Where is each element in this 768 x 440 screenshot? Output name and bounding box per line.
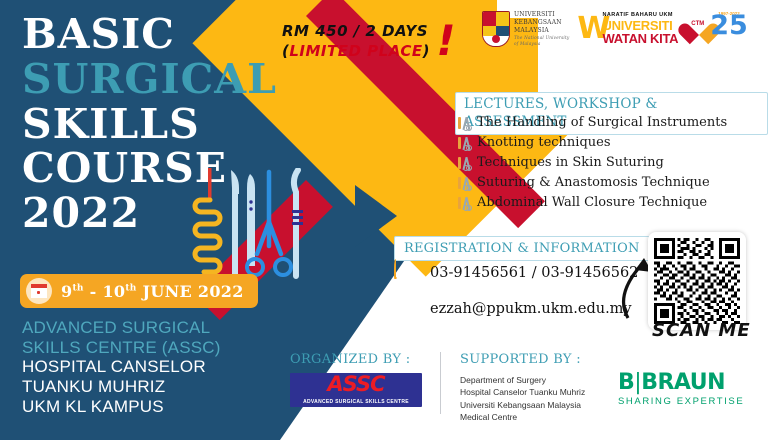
date-badge-label: 9th - 10th JUNE 2022	[61, 282, 244, 301]
section-divider	[440, 352, 441, 414]
assc-logo-subtitle: ADVANCED SURGICAL SKILLS CENTRE	[290, 399, 422, 405]
forceps-icon	[457, 196, 471, 211]
supported-line-3: Universiti Kebangsaan Malaysia	[460, 399, 585, 411]
heart-icon	[686, 15, 712, 39]
partner-logos: UNIVERSITI KEBANGSAAN MALAYSIA The Natio…	[482, 10, 742, 48]
venue-line-4: TUANKU MUHRIZ	[22, 377, 221, 397]
date-badge: 9th - 10th JUNE 2022	[20, 274, 258, 308]
braun-tagline: SHARING EXPERTISE	[618, 396, 744, 407]
forceps-icon	[457, 136, 471, 151]
date-day-from-sup: th	[72, 283, 83, 293]
ukm-sub-2: of Malaysia	[514, 41, 569, 47]
ukm-word-1: UNIVERSITI	[514, 11, 569, 19]
forceps-icon	[457, 156, 471, 171]
organized-by-block: ORGANIZED BY : ASSC ADVANCED SURGICAL SK…	[290, 352, 422, 407]
ukm-wordmark: UNIVERSITI KEBANGSAAN MALAYSIA The Natio…	[514, 11, 569, 47]
list-item: Abdominal Wall Closure Technique	[457, 194, 727, 213]
list-item: Knotting techniques	[457, 134, 727, 153]
braun-name: BRAUN	[641, 370, 725, 395]
b-braun-logo: B|BRAUN SHARING EXPERTISE	[618, 372, 744, 407]
watan-word-1: UNIVERSITI	[603, 19, 679, 32]
price-paren-close: )	[423, 42, 430, 60]
lecture-item-label: Techniques in Skin Suturing	[477, 154, 664, 173]
title-line-skills: SKILLS	[22, 104, 277, 146]
ukm-crest-logo: UNIVERSITI KEBANGSAAN MALAYSIA The Natio…	[482, 11, 569, 47]
price-line-1: RM 450 / 2 DAYS	[282, 22, 430, 42]
supported-line-1: Department of Surgery	[460, 374, 585, 386]
list-item: Techniques in Skin Suturing	[457, 154, 727, 173]
contact-email-row: ezzah@ppukm.ukm.edu.my	[394, 296, 638, 322]
ctm-initials: CTM	[691, 21, 704, 27]
forceps-icon	[457, 116, 471, 131]
supported-by-lines: Department of Surgery Hospital Canselor …	[460, 374, 585, 423]
watan-wordmark: NARATIF BAHARU UKM UNIVERSITI WATAN KITA	[603, 13, 679, 45]
price-banner: RM 450 / 2 DAYS (LIMITED PLACE) !	[282, 22, 430, 61]
price-limited-place: LIMITED PLACE	[289, 42, 422, 60]
price-line-2: (LIMITED PLACE)	[282, 42, 430, 62]
phone-icon	[394, 260, 420, 286]
venue-block: ADVANCED SURGICAL SKILLS CENTRE (ASSC) H…	[22, 318, 221, 417]
ctm-25-anniversary-logo: CTM 1997-2022 25	[686, 10, 742, 48]
calendar-icon	[26, 278, 52, 304]
ukm-word-3: MALAYSIA	[514, 27, 569, 35]
qr-code[interactable]	[648, 232, 746, 330]
braun-wordmark: B|BRAUN	[618, 372, 744, 394]
contact-phone-row: 03-91456561 / 03-91456562	[394, 260, 638, 286]
contact-block: 03-91456561 / 03-91456562 ezzah@ppukm.uk…	[394, 260, 638, 332]
ctm-number: 25	[710, 12, 748, 39]
date-day-to-sup: th	[125, 283, 136, 293]
ukm-crest-icon	[482, 11, 510, 47]
date-day-to: 10	[102, 282, 125, 301]
venue-line-5: UKM KL KAMPUS	[22, 397, 221, 417]
ukm-word-2: KEBANGSAAN	[514, 19, 569, 27]
lecture-item-label: Suturing & Anastomosis Technique	[477, 174, 710, 193]
supported-line-2: Hospital Canselor Tuanku Muhriz	[460, 386, 585, 398]
supported-by-heading: SUPPORTED BY :	[460, 352, 585, 367]
supported-by-block: SUPPORTED BY : Department of Surgery Hos…	[460, 352, 585, 423]
lectures-list: The Handling of Surgical Instruments Kno…	[457, 114, 727, 214]
envelope-icon	[394, 296, 420, 322]
assc-logo-text: ASSC	[290, 374, 422, 395]
venue-line-1: ADVANCED SURGICAL	[22, 318, 221, 338]
poster-canvas: BASIC SURGICAL SKILLS COURSE 2022	[0, 0, 768, 440]
organized-by-heading: ORGANIZED BY :	[290, 352, 422, 367]
forceps-icon	[457, 176, 471, 191]
venue-line-3: HOSPITAL CANSELOR	[22, 357, 221, 377]
lecture-item-label: Knotting techniques	[477, 134, 611, 153]
list-item: The Handling of Surgical Instruments	[457, 114, 727, 133]
registration-heading: REGISTRATION & INFORMATION	[404, 241, 640, 256]
contact-phone: 03-91456561 / 03-91456562	[430, 265, 638, 281]
venue-line-2: SKILLS CENTRE (ASSC)	[22, 338, 221, 358]
scan-me-label: SCAN ME	[652, 320, 751, 341]
contact-email: ezzah@ppukm.ukm.edu.my	[430, 301, 632, 317]
title-line-surgical: SURGICAL	[22, 59, 277, 101]
date-dash: -	[84, 282, 103, 301]
braun-b: B	[618, 370, 634, 395]
date-month-year: JUNE 2022	[143, 282, 244, 301]
supported-line-4: Medical Centre	[460, 411, 585, 423]
lecture-item-label: The Handling of Surgical Instruments	[477, 114, 727, 133]
surgical-instruments-illustration	[190, 168, 310, 291]
price-exclamation: !	[436, 20, 456, 62]
list-item: Suturing & Anastomosis Technique	[457, 174, 727, 193]
lecture-item-label: Abdominal Wall Closure Technique	[477, 194, 707, 213]
date-day-from: 9	[61, 282, 72, 301]
registration-heading-box: REGISTRATION & INFORMATION	[394, 236, 650, 261]
universiti-watan-kita-logo: W NARATIF BAHARU UKM UNIVERSITI WATAN KI…	[577, 10, 678, 48]
watan-word-2: WATAN KITA	[603, 32, 679, 45]
title-line-basic: BASIC	[22, 14, 277, 56]
assc-logo: ASSC ADVANCED SURGICAL SKILLS CENTRE	[290, 373, 422, 407]
